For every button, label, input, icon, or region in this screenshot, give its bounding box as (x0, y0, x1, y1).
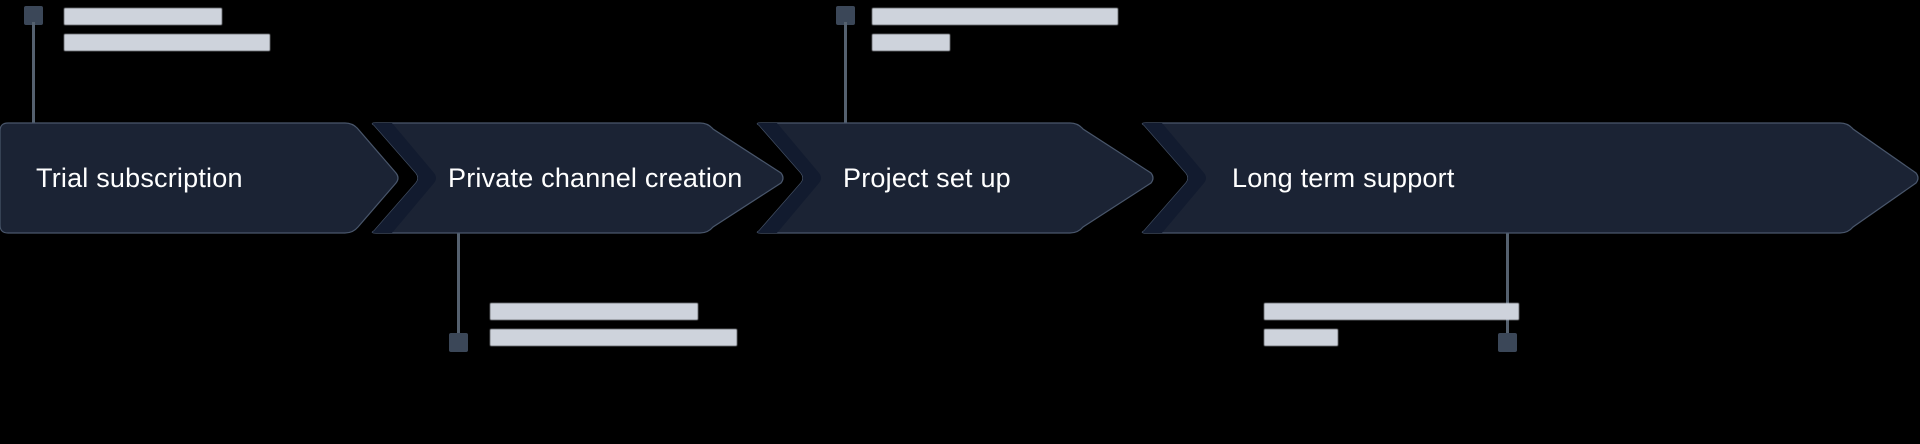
redacted-text-line (1264, 329, 1338, 346)
chevron-band: Trial subscription Private channel creat… (0, 123, 1920, 233)
process-timeline-diagram: Trial subscription Private channel creat… (0, 0, 1920, 444)
chevron-stage-3[interactable]: Project set up (755, 123, 1155, 233)
redacted-text-line (490, 303, 698, 320)
redacted-text-line (490, 329, 737, 346)
chevron-stage-1[interactable]: Trial subscription (0, 123, 400, 233)
connector-line-stage-3 (844, 22, 847, 126)
annotation-stage-4 (1264, 303, 1519, 346)
connector-node-stage-2 (449, 333, 468, 352)
annotation-stage-2 (490, 303, 737, 346)
redacted-text-line (64, 8, 222, 25)
redacted-text-line (872, 8, 1118, 25)
annotation-stage-1 (64, 8, 270, 51)
redacted-text-line (64, 34, 270, 51)
redacted-text-line (872, 34, 950, 51)
annotation-stage-3 (872, 8, 1118, 51)
connector-line-stage-1 (32, 22, 35, 126)
connector-line-stage-2 (457, 231, 460, 337)
chevron-stage-4[interactable]: Long term support (1140, 123, 1920, 233)
redacted-text-line (1264, 303, 1519, 320)
chevron-stage-2[interactable]: Private channel creation (370, 123, 785, 233)
